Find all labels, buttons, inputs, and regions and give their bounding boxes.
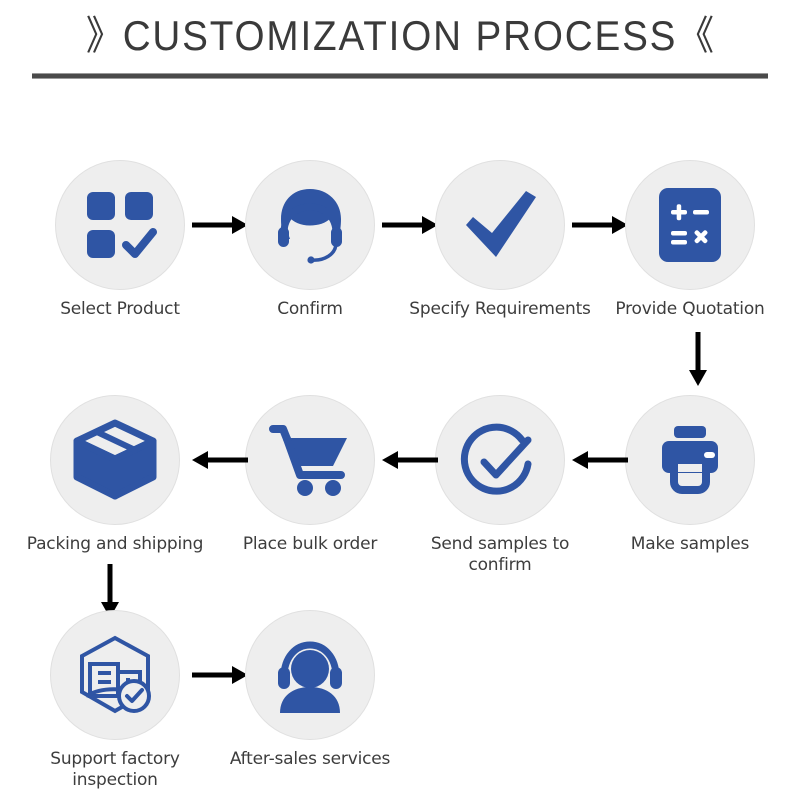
step-2-label: Confirm: [215, 299, 405, 320]
step-6-label: Send samples to confirm: [405, 534, 595, 576]
process-flow-diagram: Select Product Confirm: [0, 0, 800, 800]
step-5-badge: [625, 395, 755, 525]
step-8-label: Packing and shipping: [20, 534, 210, 555]
step-3-badge: [435, 160, 565, 290]
step-9-badge: [50, 610, 180, 740]
step-confirm[interactable]: Confirm: [215, 160, 405, 320]
step-place-bulk-order[interactable]: Place bulk order: [215, 395, 405, 555]
package-box-icon: [73, 419, 157, 501]
step-7-badge: [245, 395, 375, 525]
support-person-icon: [270, 637, 350, 713]
step-1-badge: [55, 160, 185, 290]
shopping-cart-icon: [269, 423, 351, 497]
step-select-product[interactable]: Select Product: [25, 160, 215, 320]
step-support-factory-inspection[interactable]: Support factory inspection: [20, 610, 210, 791]
arrow-step4-to-step5: [684, 330, 712, 388]
headset-agent-icon: [268, 183, 352, 267]
circle-check-icon: [458, 418, 542, 502]
step-4-badge: [625, 160, 755, 290]
step-provide-quotation[interactable]: Provide Quotation: [595, 160, 785, 320]
squares-check-icon: [83, 188, 157, 262]
step-10-label: After-sales services: [215, 749, 405, 770]
step-after-sales-services[interactable]: After-sales services: [215, 610, 405, 770]
step-7-label: Place bulk order: [215, 534, 405, 555]
step-2-badge: [245, 160, 375, 290]
step-10-badge: [245, 610, 375, 740]
step-9-label: Support factory inspection: [20, 749, 210, 791]
step-specify-requirements[interactable]: Specify Requirements: [405, 160, 595, 320]
factory-check-icon: [74, 634, 156, 716]
step-6-badge: [435, 395, 565, 525]
step-5-label: Make samples: [595, 534, 785, 555]
step-packing-and-shipping[interactable]: Packing and shipping: [20, 395, 210, 555]
step-make-samples[interactable]: Make samples: [595, 395, 785, 555]
step-1-label: Select Product: [25, 299, 215, 320]
step-8-badge: [50, 395, 180, 525]
step-3-label: Specify Requirements: [405, 299, 595, 320]
calculator-icon: [657, 186, 723, 264]
printer-icon: [650, 424, 730, 496]
checkmark-icon: [460, 187, 540, 263]
step-4-label: Provide Quotation: [595, 299, 785, 320]
step-send-samples-to-confirm[interactable]: Send samples to confirm: [405, 395, 595, 576]
